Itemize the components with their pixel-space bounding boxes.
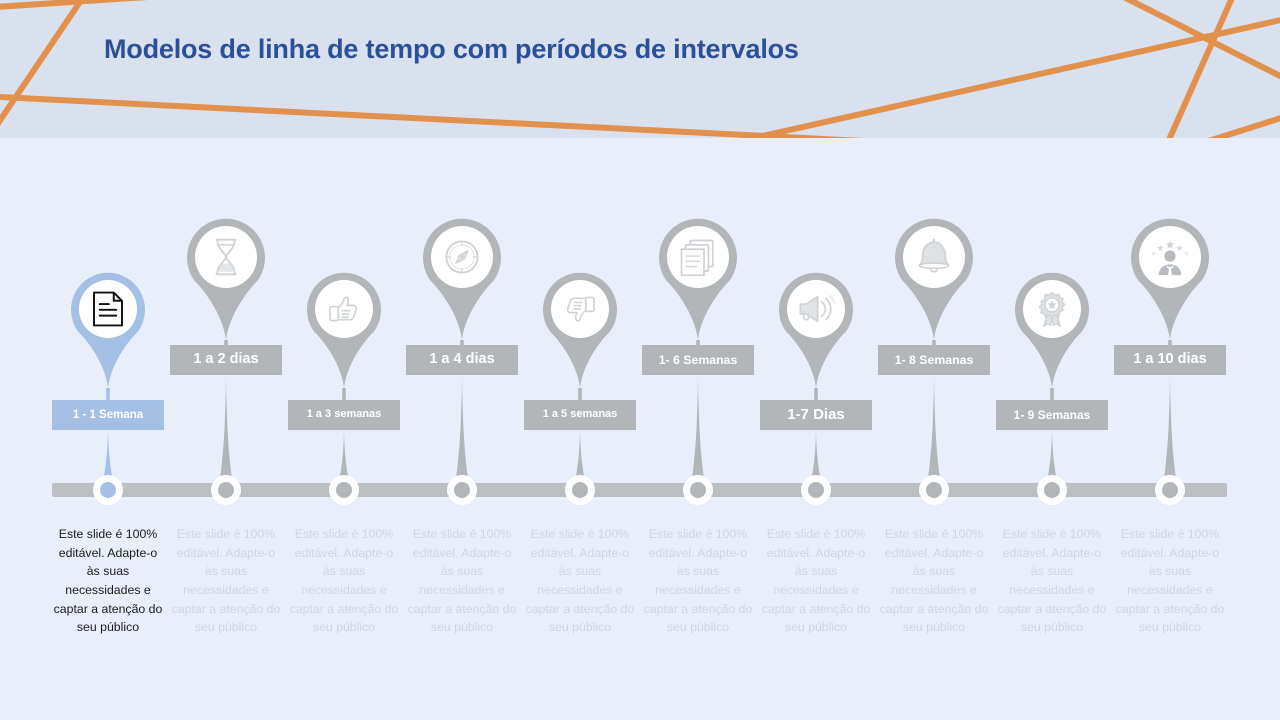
node-dot — [218, 482, 234, 498]
marker-stem-upper — [339, 388, 349, 400]
map-pin-icon — [307, 272, 381, 388]
marker-period-label-6[interactable]: 1- 6 Semanas — [642, 345, 754, 375]
marker-stem-lower — [448, 375, 476, 490]
map-pin-icon — [1131, 218, 1209, 340]
marker-period-label-3[interactable]: 1 a 3 semanas — [288, 400, 400, 430]
marker-period-label-5[interactable]: 1 a 5 semanas — [524, 400, 636, 430]
marker-period-label-8[interactable]: 1- 8 Semanas — [878, 345, 990, 375]
header-decorative-lines — [0, 0, 1280, 138]
page-title: Modelos de linha de tempo com períodos d… — [104, 34, 799, 65]
marker-stem-lower — [920, 375, 948, 490]
marker-stem-upper — [1047, 388, 1057, 400]
marker-description-2: Este slide é 100% editável. Adapte-o às … — [170, 525, 282, 637]
marker-description-6: Este slide é 100% editável. Adapte-o às … — [642, 525, 754, 637]
map-pin-icon — [779, 272, 853, 388]
marker-description-5: Este slide é 100% editável. Adapte-o às … — [524, 525, 636, 637]
timeline-node-4[interactable] — [447, 475, 477, 505]
map-pin-icon — [659, 218, 737, 340]
marker-stem-lower — [684, 375, 712, 490]
marker-description-9: Este slide é 100% editável. Adapte-o às … — [996, 525, 1108, 637]
marker-stem-lower — [1156, 375, 1184, 490]
marker-period-label-2[interactable]: 1 a 2 dias — [170, 345, 282, 375]
marker-description-3: Este slide é 100% editável. Adapte-o às … — [288, 525, 400, 637]
timeline-node-2[interactable] — [211, 475, 241, 505]
slide-canvas: Modelos de linha de tempo com períodos d… — [0, 0, 1280, 720]
timeline-node-10[interactable] — [1155, 475, 1185, 505]
marker-stem-lower — [212, 375, 240, 490]
map-pin-icon — [187, 218, 265, 340]
marker-stem-upper — [811, 388, 821, 400]
marker-description-1: Este slide é 100% editável. Adapte-o às … — [52, 525, 164, 637]
marker-stem-upper — [575, 388, 585, 400]
map-pin-icon — [71, 272, 145, 388]
marker-description-8: Este slide é 100% editável. Adapte-o às … — [878, 525, 990, 637]
map-pin-icon — [543, 272, 617, 388]
marker-description-7: Este slide é 100% editável. Adapte-o às … — [760, 525, 872, 637]
node-dot — [336, 482, 352, 498]
marker-period-label-1[interactable]: 1 - 1 Semana — [52, 400, 164, 430]
marker-period-label-9[interactable]: 1- 9 Semanas — [996, 400, 1108, 430]
marker-description-4: Este slide é 100% editável. Adapte-o às … — [406, 525, 518, 637]
marker-stem-upper — [103, 388, 113, 400]
timeline-node-5[interactable] — [565, 475, 595, 505]
marker-period-label-7[interactable]: 1-7 Dias — [760, 400, 872, 430]
node-dot — [926, 482, 942, 498]
timeline-node-1[interactable] — [93, 475, 123, 505]
node-dot — [1044, 482, 1060, 498]
node-dot — [808, 482, 824, 498]
map-pin-icon — [895, 218, 973, 340]
node-dot — [100, 482, 116, 498]
map-pin-icon — [1015, 272, 1089, 388]
timeline-node-8[interactable] — [919, 475, 949, 505]
timeline-node-3[interactable] — [329, 475, 359, 505]
node-dot — [690, 482, 706, 498]
map-pin-icon — [423, 218, 501, 340]
slide-header: Modelos de linha de tempo com períodos d… — [0, 0, 1280, 138]
timeline-node-6[interactable] — [683, 475, 713, 505]
node-dot — [572, 482, 588, 498]
marker-period-label-10[interactable]: 1 a 10 dias — [1114, 345, 1226, 375]
node-dot — [1162, 482, 1178, 498]
timeline-node-7[interactable] — [801, 475, 831, 505]
marker-period-label-4[interactable]: 1 a 4 dias — [406, 345, 518, 375]
marker-description-10: Este slide é 100% editável. Adapte-o às … — [1114, 525, 1226, 637]
timeline-node-9[interactable] — [1037, 475, 1067, 505]
node-dot — [454, 482, 470, 498]
